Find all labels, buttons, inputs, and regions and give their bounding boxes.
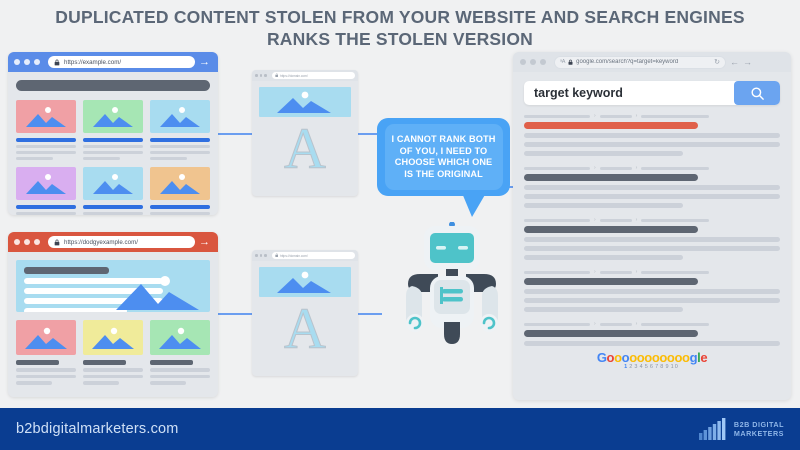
pagination-page-1[interactable]: 1 — [624, 364, 628, 370]
breadcrumb-segment — [524, 167, 590, 171]
google-logo-letter-0: G — [597, 350, 607, 365]
search-button[interactable] — [734, 81, 780, 105]
google-logo-letter-6: o — [644, 350, 652, 365]
card-thumbnail — [16, 167, 76, 200]
image-placeholder-icon — [83, 167, 143, 200]
card-title-bar — [150, 205, 210, 209]
image-placeholder-icon — [150, 167, 210, 200]
breadcrumb-segment — [524, 115, 590, 119]
chevron-right-icon: › — [594, 270, 596, 275]
content-letter-2: A — [259, 299, 351, 359]
lock-icon — [275, 73, 279, 78]
image-placeholder-icon — [16, 167, 76, 200]
google-pagination-logo: Gooooooooooogle — [513, 350, 791, 365]
pagination-numbers[interactable]: 12345678910 — [513, 364, 791, 370]
breadcrumb-segment — [600, 271, 632, 275]
bar-chart-icon — [698, 418, 728, 440]
result-title[interactable] — [524, 278, 698, 285]
google-serp-window[interactable]: ᵃA google.com/search?q=target=keyword ↻ … — [513, 52, 791, 400]
chevron-left-icon[interactable]: ← — [730, 58, 739, 67]
google-logo-letter-8: o — [659, 350, 667, 365]
window-dot-maximize[interactable] — [34, 59, 40, 65]
image-placeholder-icon — [83, 100, 143, 133]
list-item[interactable] — [150, 320, 210, 385]
mini-url-text-2: https://domain.com/ — [280, 254, 308, 258]
list-item[interactable] — [16, 320, 76, 385]
window-dot-close[interactable] — [255, 254, 258, 257]
result-snippet-line — [524, 237, 780, 242]
serp-url-text: google.com/search?q=target=keyword — [576, 59, 711, 65]
breadcrumb-segment — [641, 323, 709, 327]
breadcrumb-segment — [641, 167, 709, 171]
card-thumbnail — [150, 100, 210, 133]
list-item[interactable] — [150, 100, 210, 160]
image-placeholder-icon — [150, 100, 210, 133]
speech-bubble-text: I CANNOT RANK BOTH OF YOU, I NEED TO CHO… — [385, 134, 503, 180]
search-engine-robot — [396, 222, 508, 349]
breadcrumb: › › — [524, 114, 780, 119]
chevron-right-icon: › — [636, 322, 638, 327]
result-snippet-line — [524, 298, 780, 303]
result-snippet-line — [524, 133, 780, 138]
list-item[interactable] — [83, 100, 143, 160]
card-text-line — [16, 381, 52, 385]
card-title-bar — [16, 360, 59, 365]
google-logo-letter-1: o — [607, 350, 615, 365]
text-size-icon[interactable]: ᵃA — [560, 59, 565, 65]
chevron-right-icon: › — [636, 270, 638, 275]
result-snippet-line — [524, 151, 683, 156]
card-text-line — [16, 212, 76, 215]
image-placeholder-icon — [83, 320, 143, 355]
lock-icon — [275, 253, 279, 258]
pagination-page-6[interactable]: 6 — [650, 364, 654, 370]
footer-logo-text: B2B DIGITAL MARKETERS — [734, 420, 784, 438]
card-text-line — [150, 151, 210, 154]
card-text-line — [16, 145, 76, 148]
breadcrumb-segment — [524, 271, 590, 275]
breadcrumb-segment — [641, 271, 709, 275]
stolen-browser-chrome: https://dodgyexample.com/ → — [8, 232, 218, 252]
search-input-row[interactable]: target keyword — [524, 81, 780, 105]
serp-address-bar[interactable]: ᵃA google.com/search?q=target=keyword ↻ — [554, 56, 726, 69]
breadcrumb-segment — [600, 167, 632, 171]
card-text-line — [83, 381, 119, 385]
original-browser-chrome: https://example.com/ → — [8, 52, 218, 72]
card-text-line — [16, 157, 53, 160]
window-dot-maximize[interactable] — [34, 239, 40, 245]
card-title-bar — [83, 205, 143, 209]
card-title-bar — [16, 138, 76, 142]
breadcrumb: › › — [524, 322, 780, 327]
stolen-url-text: https://dodgyexample.com/ — [64, 239, 138, 246]
chevron-right-icon: › — [594, 166, 596, 171]
speech-bubble-inner: I CANNOT RANK BOTH OF YOU, I NEED TO CHO… — [385, 124, 503, 190]
pagination[interactable]: Gooooooooooogle 12345678910 — [513, 350, 791, 370]
card-thumbnail — [150, 167, 210, 200]
search-input[interactable]: target keyword — [524, 86, 734, 100]
list-item[interactable] — [83, 320, 143, 385]
footer-logo-line-2: MARKETERS — [734, 429, 784, 438]
result-snippet-line — [524, 255, 683, 260]
pagination-page-8[interactable]: 8 — [660, 364, 664, 370]
card-title-bar — [150, 138, 210, 142]
original-page-heading-bar — [16, 80, 210, 91]
footer-logo[interactable]: B2B DIGITAL MARKETERS — [698, 418, 784, 440]
robot-icon — [396, 222, 508, 344]
card-text-line — [83, 368, 143, 372]
breadcrumb-segment — [600, 219, 632, 223]
result-snippet-line — [524, 194, 780, 199]
window-dot-minimize[interactable] — [24, 239, 30, 245]
card-text-line — [16, 368, 76, 372]
image-placeholder-icon — [111, 272, 206, 312]
reload-icon[interactable]: ↻ — [714, 58, 720, 66]
result-title[interactable] — [524, 174, 698, 181]
mini-url-text-1: https://domain.com/ — [280, 74, 308, 78]
google-logo-letter-11: o — [682, 350, 690, 365]
window-dot-maximize[interactable] — [540, 59, 546, 65]
image-placeholder-icon — [259, 267, 351, 297]
google-logo-letter-4: o — [629, 350, 637, 365]
list-item[interactable] — [16, 167, 76, 215]
footer-logo-line-1: B2B DIGITAL — [734, 420, 784, 429]
mini-body-1: A — [252, 81, 358, 185]
mini-image-placeholder-1 — [259, 87, 351, 117]
result-snippet-line — [524, 142, 780, 147]
serp-browser-chrome: ᵃA google.com/search?q=target=keyword ↻ … — [513, 52, 791, 72]
window-dot-maximize[interactable] — [264, 254, 267, 257]
card-thumbnail — [16, 320, 76, 355]
card-text-line — [150, 157, 187, 160]
magnifier-icon — [750, 86, 765, 101]
result-title[interactable] — [524, 330, 698, 337]
mini-browser-chrome-2: https://domain.com/ — [252, 250, 358, 261]
window-dot-minimize[interactable] — [530, 59, 536, 65]
image-placeholder-icon — [259, 87, 351, 117]
result-snippet-line — [524, 341, 780, 346]
mini-body-2: A — [252, 261, 358, 365]
original-site-browser[interactable]: https://example.com/ → — [8, 52, 218, 215]
window-dot-minimize[interactable] — [260, 74, 263, 77]
search-result-1[interactable]: › › — [524, 114, 780, 156]
mini-image-placeholder-2 — [259, 267, 351, 297]
card-thumbnail — [83, 167, 143, 200]
window-dot-close[interactable] — [14, 239, 20, 245]
robot-speech-bubble: I CANNOT RANK BOTH OF YOU, I NEED TO CHO… — [377, 118, 510, 196]
hero-title-bar — [24, 267, 109, 274]
pagination-page-10[interactable]: 10 — [671, 364, 679, 370]
stolen-card-grid — [16, 320, 210, 385]
list-item[interactable] — [83, 167, 143, 215]
chevron-right-icon[interactable]: → — [743, 58, 752, 67]
result-snippet-line — [524, 185, 780, 190]
list-item[interactable] — [150, 167, 210, 215]
mini-url-bar-1[interactable]: https://domain.com/ — [272, 72, 356, 79]
card-title-bar — [16, 205, 76, 209]
breadcrumb-segment — [641, 219, 709, 223]
card-text-line — [150, 381, 186, 385]
original-url-text: https://example.com/ — [64, 59, 121, 66]
result-snippet-line — [524, 307, 683, 312]
mini-browser-chrome-1: https://domain.com/ — [252, 70, 358, 81]
window-dot-close[interactable] — [255, 74, 258, 77]
breadcrumb-segment — [600, 323, 632, 327]
card-text-line — [83, 151, 143, 154]
result-title[interactable] — [524, 226, 698, 233]
breadcrumb-segment — [600, 115, 632, 119]
card-text-line — [16, 375, 76, 379]
image-placeholder-icon — [16, 320, 76, 355]
arrow-right-icon[interactable]: → — [199, 57, 212, 68]
card-text-line — [150, 368, 210, 372]
chevron-right-icon: › — [594, 322, 596, 327]
google-logo-letter-12: g — [690, 350, 698, 365]
arrow-right-icon[interactable]: → — [199, 237, 212, 248]
image-placeholder-icon — [150, 320, 210, 355]
window-dot-close[interactable] — [520, 59, 526, 65]
stolen-site-content — [8, 252, 218, 397]
card-text-line — [83, 157, 120, 160]
breadcrumb: › › — [524, 166, 780, 171]
stolen-site-browser[interactable]: https://dodgyexample.com/ → — [8, 232, 218, 397]
window-dot-maximize[interactable] — [264, 74, 267, 77]
google-logo-letter-2: o — [614, 350, 622, 365]
original-site-content — [8, 72, 218, 215]
page-title: DUPLICATED CONTENT STOLEN FROM YOUR WEBS… — [45, 6, 755, 50]
original-url-bar[interactable]: https://example.com/ — [48, 56, 195, 68]
card-thumbnail — [16, 100, 76, 133]
card-text-line — [150, 375, 210, 379]
list-item[interactable] — [16, 100, 76, 160]
card-text-line — [16, 151, 76, 154]
original-card-grid — [16, 100, 210, 215]
image-placeholder-icon — [16, 100, 76, 133]
footer-bar: b2bdigitalmarketers.com B2B DIGITAL MARK… — [0, 408, 800, 450]
result-snippet-line — [524, 289, 780, 294]
breadcrumb-segment — [524, 323, 590, 327]
window-dot-minimize[interactable] — [260, 254, 263, 257]
pagination-page-3[interactable]: 3 — [634, 364, 638, 370]
pagination-page-4[interactable]: 4 — [640, 364, 644, 370]
original-copy-window[interactable]: https://domain.com/ A — [252, 70, 358, 196]
stolen-copy-window[interactable]: https://domain.com/ A — [252, 250, 358, 376]
search-result-2[interactable]: › › — [524, 166, 780, 208]
content-letter-1: A — [259, 119, 351, 179]
chevron-right-icon: › — [636, 114, 638, 119]
mini-url-bar-2[interactable]: https://domain.com/ — [272, 252, 356, 259]
breadcrumb: › › — [524, 270, 780, 275]
lock-icon — [54, 239, 60, 246]
lock-icon — [54, 59, 60, 66]
card-text-line — [150, 212, 210, 215]
card-thumbnail — [83, 320, 143, 355]
card-thumbnail — [83, 100, 143, 133]
result-snippet-line — [524, 203, 683, 208]
search-results-list: › › › › — [513, 105, 791, 346]
card-thumbnail — [150, 320, 210, 355]
pagination-page-9[interactable]: 9 — [665, 364, 669, 370]
infographic-canvas: DUPLICATED CONTENT STOLEN FROM YOUR WEBS… — [0, 0, 800, 450]
pagination-page-2[interactable]: 2 — [629, 364, 633, 370]
connector-copy-to-serp-bottom — [358, 313, 382, 315]
chevron-right-icon: › — [594, 218, 596, 223]
google-logo-letter-10: o — [674, 350, 682, 365]
chevron-right-icon: › — [594, 114, 596, 119]
chevron-right-icon: › — [636, 166, 638, 171]
card-title-bar — [83, 360, 126, 365]
stolen-url-bar[interactable]: https://dodgyexample.com/ — [48, 236, 195, 248]
chevron-right-icon: › — [636, 218, 638, 223]
card-text-line — [150, 145, 210, 148]
pagination-page-7[interactable]: 7 — [655, 364, 659, 370]
card-text-line — [83, 375, 143, 379]
window-dot-minimize[interactable] — [24, 59, 30, 65]
stolen-hero-banner — [16, 260, 210, 312]
window-dot-close[interactable] — [14, 59, 20, 65]
pagination-page-5[interactable]: 5 — [645, 364, 649, 370]
search-result-5[interactable]: › › — [524, 322, 780, 346]
card-title-bar — [150, 360, 193, 365]
card-text-line — [83, 212, 143, 215]
search-result-4[interactable]: › › — [524, 270, 780, 312]
result-snippet-line — [524, 246, 780, 251]
speech-bubble-tail — [462, 193, 486, 217]
breadcrumb-segment — [524, 219, 590, 223]
card-title-bar — [83, 138, 143, 142]
lock-icon — [568, 59, 573, 66]
result-title-stolen[interactable] — [524, 122, 698, 129]
card-text-line — [83, 145, 143, 148]
search-result-3[interactable]: › › — [524, 218, 780, 260]
breadcrumb-segment — [641, 115, 709, 119]
google-logo-letter-14: e — [700, 350, 707, 365]
footer-site-url[interactable]: b2bdigitalmarketers.com — [16, 421, 179, 437]
breadcrumb: › › — [524, 218, 780, 223]
